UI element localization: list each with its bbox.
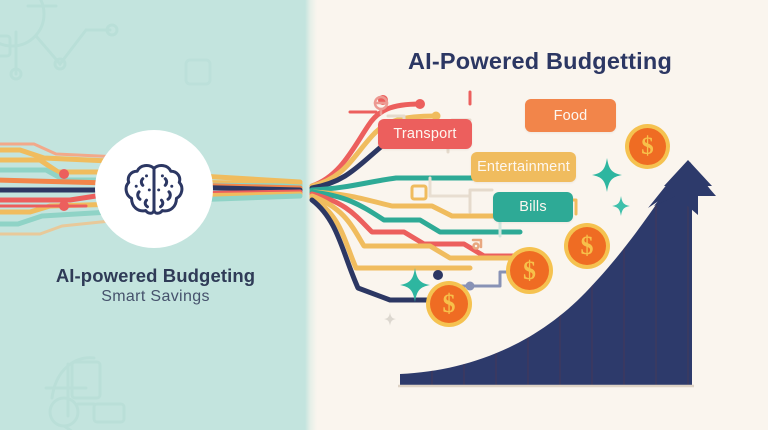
- chip-label: Food: [554, 108, 588, 124]
- chip-label: Bills: [519, 199, 547, 215]
- dollar-sign-icon: $: [641, 133, 654, 161]
- poster-canvas: AI-powered Budgeting Smart Savings AI-Po…: [0, 0, 768, 430]
- dollar-sign-icon: $: [581, 231, 594, 261]
- coin-1: $: [426, 281, 472, 327]
- sparkle-large-right-icon: [592, 158, 622, 197]
- chip-entertainment[interactable]: Entertainment: [471, 152, 576, 182]
- dollar-sign-icon: $: [523, 256, 536, 286]
- dollar-sign-icon: $: [443, 289, 456, 319]
- chip-transport[interactable]: Transport: [378, 119, 472, 149]
- chip-bills[interactable]: Bills: [493, 192, 573, 222]
- coin-4: $: [625, 124, 670, 169]
- coin-3: $: [564, 223, 610, 269]
- sparkle-tiny-left-icon: [384, 312, 396, 331]
- chip-food[interactable]: Food: [525, 99, 616, 132]
- coin-2: $: [506, 247, 553, 294]
- growth-chart: [0, 0, 768, 430]
- chip-label: Transport: [393, 126, 456, 142]
- sparkle-small-right-icon: [612, 196, 630, 221]
- sparkle-large-left-icon: [400, 268, 430, 307]
- chip-label: Entertainment: [477, 159, 570, 175]
